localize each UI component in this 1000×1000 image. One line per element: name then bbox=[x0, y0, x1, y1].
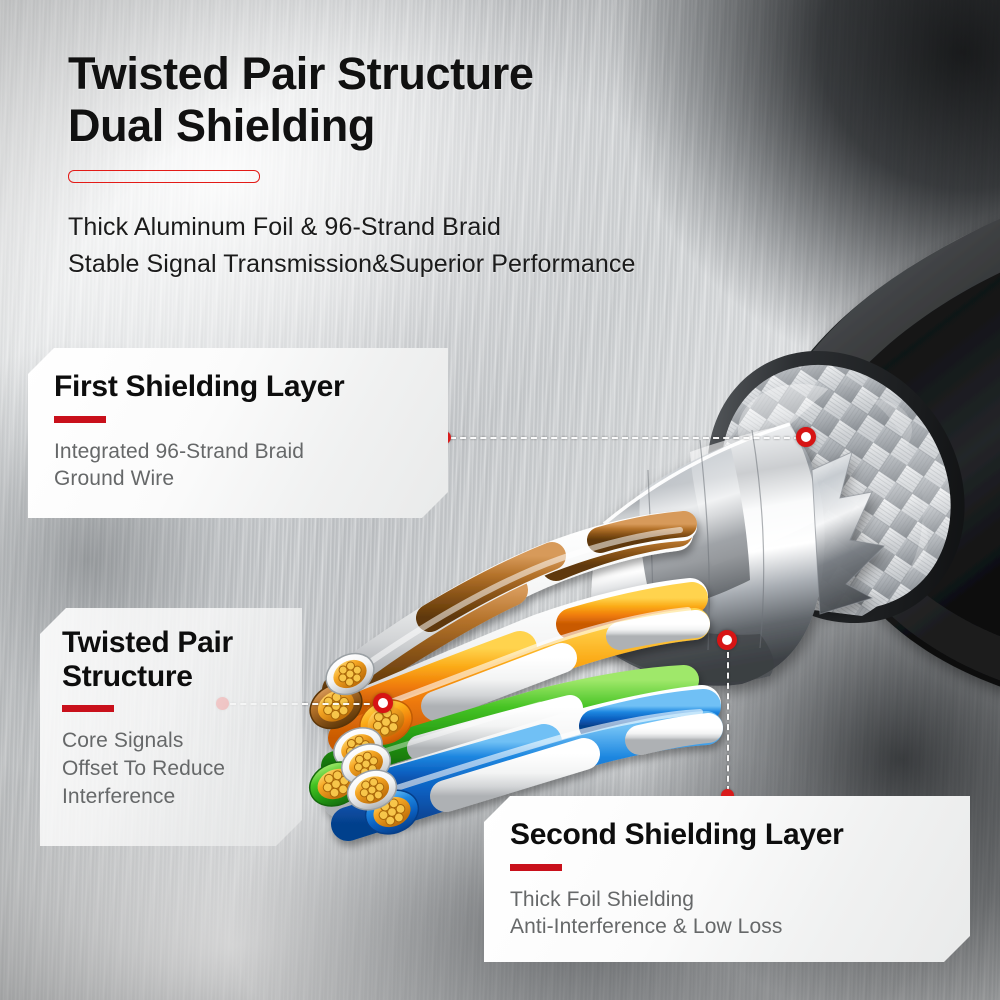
page-subtitle-line2: Stable Signal Transmission&Superior Perf… bbox=[68, 246, 898, 283]
leader-target-ring-foil bbox=[717, 630, 737, 650]
callout-title: Second Shielding Layer bbox=[510, 818, 944, 852]
callout-body: Core Signals Offset To Reduce Interferen… bbox=[62, 727, 280, 810]
callout-accent-bar bbox=[510, 864, 562, 871]
callout-body-line2: Offset To Reduce bbox=[62, 755, 280, 783]
header-block: Twisted Pair Structure Dual Shielding Th… bbox=[68, 48, 898, 283]
callout-body-line1: Integrated 96-Strand Braid bbox=[54, 438, 422, 466]
callout-body-line3: Interference bbox=[62, 783, 280, 811]
page-title-line1: Twisted Pair Structure bbox=[68, 48, 898, 100]
title-accent-rule bbox=[68, 170, 260, 183]
callout-second-shielding-layer: Second Shielding Layer Thick Foil Shield… bbox=[484, 796, 970, 962]
callout-title: Twisted Pair Structure bbox=[62, 626, 280, 693]
callout-body-line2: Anti-Interference & Low Loss bbox=[510, 913, 944, 941]
callout-twisted-pair-structure: Twisted Pair Structure Core Signals Offs… bbox=[40, 608, 302, 846]
leader-line-horizontal bbox=[450, 437, 800, 439]
leader-line-vertical bbox=[727, 652, 729, 792]
callout-body: Integrated 96-Strand Braid Ground Wire bbox=[54, 438, 422, 493]
page-subtitle: Thick Aluminum Foil & 96-Strand Braid St… bbox=[68, 209, 898, 283]
page-subtitle-line1: Thick Aluminum Foil & 96-Strand Braid bbox=[68, 209, 898, 246]
callout-title-line2: Structure bbox=[62, 660, 280, 694]
leader-target-ring-braid bbox=[796, 427, 816, 447]
callout-body: Thick Foil Shielding Anti-Interference &… bbox=[510, 886, 944, 941]
page-title-line2: Dual Shielding bbox=[68, 100, 898, 152]
callout-body-line2: Ground Wire bbox=[54, 465, 422, 493]
callout-first-shielding-layer: First Shielding Layer Integrated 96-Stra… bbox=[28, 348, 448, 518]
product-infographic: Twisted Pair Structure Dual Shielding Th… bbox=[0, 0, 1000, 1000]
page-title: Twisted Pair Structure Dual Shielding bbox=[68, 48, 898, 152]
callout-body-line1: Thick Foil Shielding bbox=[510, 886, 944, 914]
callout-body-line1: Core Signals bbox=[62, 727, 280, 755]
callout-title: First Shielding Layer bbox=[54, 370, 422, 404]
callout-accent-bar bbox=[62, 705, 114, 712]
callout-accent-bar bbox=[54, 416, 106, 423]
leader-target-ring-conductor bbox=[373, 693, 393, 713]
callout-title-line1: Twisted Pair bbox=[62, 626, 280, 660]
